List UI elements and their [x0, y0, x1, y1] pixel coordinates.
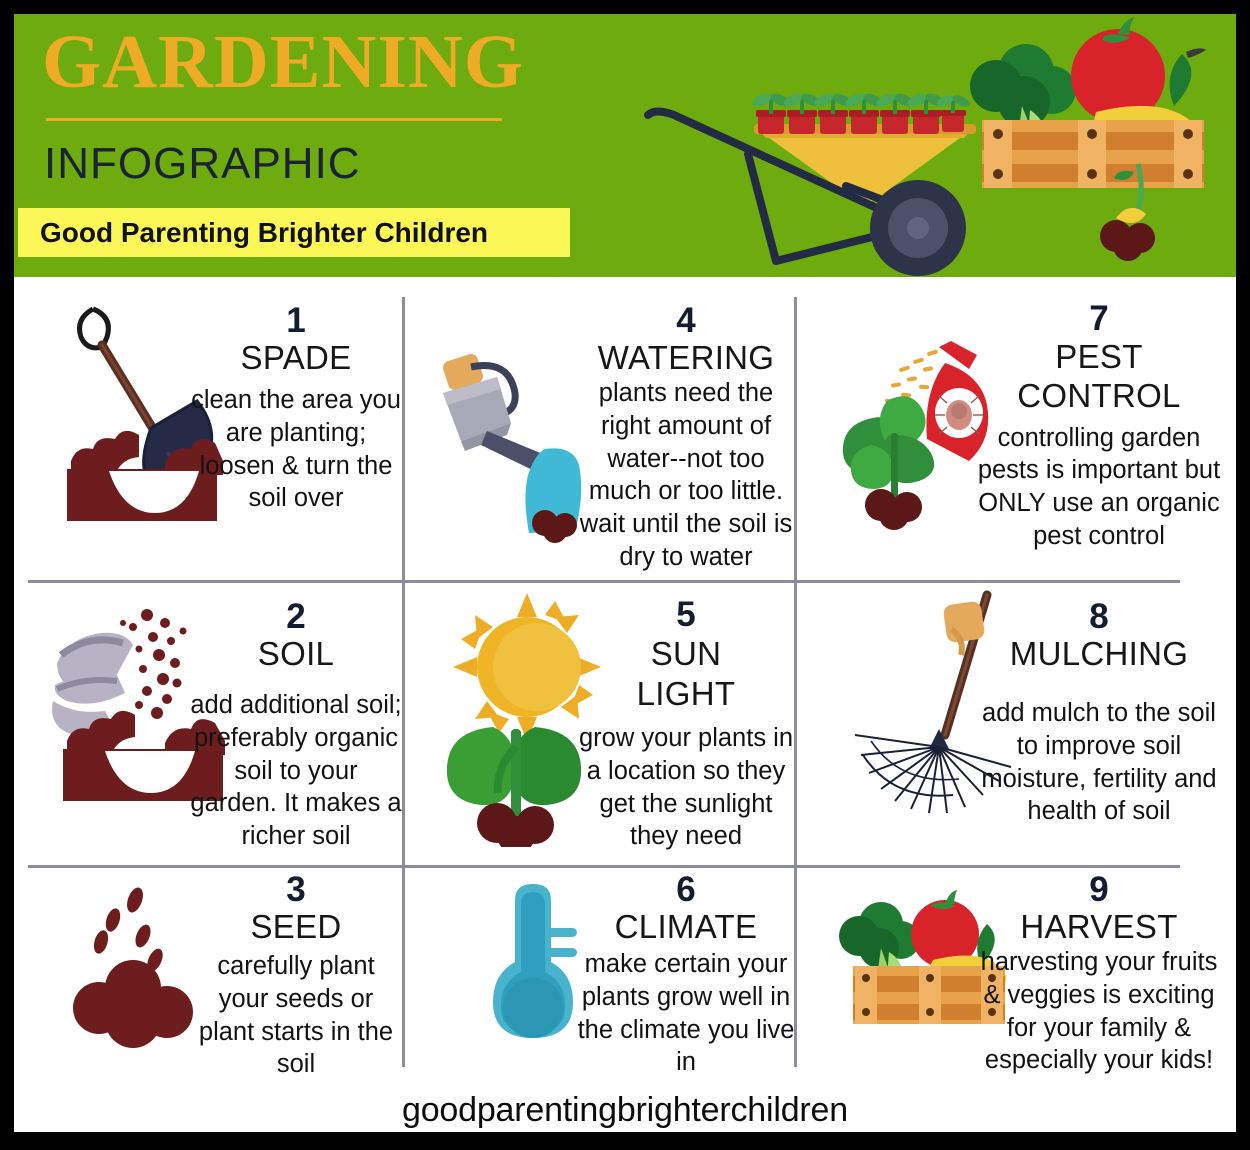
step-number-5: 5: [575, 597, 797, 634]
step-text-5: 5 SUN LIGHT grow your plants in a locati…: [575, 597, 797, 853]
step-title-7: PEST CONTROL: [977, 338, 1221, 416]
step-text-7: 7 PEST CONTROL controlling garden pests …: [977, 301, 1221, 552]
step-description-8: add mulch to the soil to improve soil mo…: [977, 697, 1221, 828]
step-card-4: 4 WATERING plants need the right amount …: [413, 289, 795, 579]
step-title-1: SPADE: [189, 340, 403, 376]
brand-badge: Good Parenting Brighter Children: [18, 208, 570, 257]
header-artwork: [626, 14, 1236, 277]
step-card-5: 5 SUN LIGHT grow your plants in a locati…: [413, 579, 795, 864]
step-card-6: 6 CLIMATE make certain your plants grow …: [413, 864, 795, 1069]
wheelbarrow-icon: [648, 91, 976, 276]
step-title-6: CLIMATE: [575, 909, 797, 945]
step-title-9: HARVEST: [977, 909, 1221, 945]
step-card-7: 7 PEST CONTROL controlling garden pests …: [805, 289, 1221, 579]
step-description-9: harvesting your fruits & veggies is exci…: [977, 946, 1221, 1077]
step-card-2: 2 SOIL add additional soil; preferably o…: [37, 579, 403, 864]
step-description-4: plants need the right amount of water--n…: [575, 377, 797, 573]
title-underline: [46, 118, 502, 121]
step-title-3: SEED: [189, 909, 403, 945]
step-text-3: 3 SEED carefully plant your seeds or pla…: [189, 872, 403, 1081]
page-title: GARDENING: [42, 24, 524, 100]
step-text-8: 8 MULCHING add mulch to the soil to impr…: [977, 599, 1221, 828]
step-title-8: MULCHING: [977, 636, 1221, 672]
step-title-4: WATERING: [575, 340, 797, 376]
step-card-3: 3 SEED carefully plant your seeds or pla…: [37, 864, 403, 1069]
header-banner: GARDENING INFOGRAPHIC Good Parenting Bri…: [14, 14, 1236, 277]
step-card-8: 8 MULCHING add mulch to the soil to impr…: [805, 579, 1221, 864]
brand-badge-label: Good Parenting Brighter Children: [40, 217, 488, 249]
footer-site-name: goodparentingbrighterchildren: [14, 1091, 1236, 1130]
step-number-3: 3: [189, 872, 403, 909]
step-text-6: 6 CLIMATE make certain your plants grow …: [575, 872, 797, 1079]
step-number-1: 1: [189, 303, 403, 340]
step-number-6: 6: [575, 872, 797, 909]
step-description-5: grow your plants in a location so they g…: [575, 722, 797, 853]
step-card-1: 1 SPADE clean the area you are planting;…: [37, 289, 403, 579]
step-text-2: 2 SOIL add additional soil; preferably o…: [189, 599, 403, 853]
page-subtitle: INFOGRAPHIC: [44, 139, 361, 189]
step-text-9: 9 HARVEST harvesting your fruits & veggi…: [977, 872, 1221, 1077]
step-description-3: carefully plant your seeds or plant star…: [189, 950, 403, 1081]
step-description-2: add additional soil; preferably organic …: [189, 689, 403, 852]
steps-grid: 1 SPADE clean the area you are planting;…: [14, 277, 1236, 1067]
step-number-7: 7: [977, 301, 1221, 338]
step-description-1: clean the area you are planting; loosen …: [189, 384, 403, 515]
produce-crate-icon: [970, 17, 1206, 261]
step-text-1: 1 SPADE clean the area you are planting;…: [189, 303, 403, 515]
infographic-frame: GARDENING INFOGRAPHIC Good Parenting Bri…: [14, 14, 1236, 1132]
step-description-6: make certain your plants grow well in th…: [575, 948, 797, 1079]
step-number-2: 2: [189, 599, 403, 636]
step-number-9: 9: [977, 872, 1221, 909]
step-title-2: SOIL: [189, 636, 403, 672]
step-number-4: 4: [575, 303, 797, 340]
step-card-9: 9 HARVEST harvesting your fruits & veggi…: [805, 864, 1221, 1069]
step-title-5: SUN LIGHT: [631, 634, 741, 715]
step-description-7: controlling garden pests is important bu…: [977, 422, 1221, 553]
step-text-4: 4 WATERING plants need the right amount …: [575, 303, 797, 573]
step-number-8: 8: [977, 599, 1221, 636]
